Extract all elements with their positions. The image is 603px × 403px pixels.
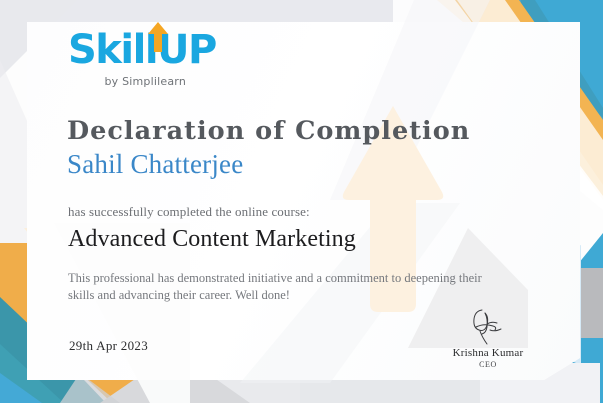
signatory-role: CEO: [440, 360, 536, 369]
logo-wordmark: SkillUP: [68, 30, 216, 70]
signatory-name: Krishna Kumar: [440, 347, 536, 359]
logo-subtitle: by Simplilearn: [68, 75, 186, 88]
recipient-name: Sahil Chatterjee: [67, 149, 243, 180]
handwritten-signature-icon: [440, 306, 536, 346]
up-arrow-icon: [147, 19, 169, 49]
certificate-body-text: This professional has demonstrated initi…: [68, 270, 498, 304]
signature-block: Krishna Kumar CEO: [440, 306, 536, 369]
logo-text-skill: Skill: [68, 27, 157, 73]
course-name: Advanced Content Marketing: [68, 226, 356, 253]
issue-date: 29th Apr 2023: [69, 338, 148, 354]
certificate-title: Declaration of Completion: [67, 116, 470, 145]
certificate-title-text: Declaration of Completion: [67, 116, 470, 145]
brand-logo: SkillUP by Simplilearn: [68, 30, 216, 88]
certificate-document: SkillUP by Simplilearn Declaration of Co…: [0, 0, 603, 403]
course-lead-in-text: has successfully completed the online co…: [68, 204, 310, 220]
